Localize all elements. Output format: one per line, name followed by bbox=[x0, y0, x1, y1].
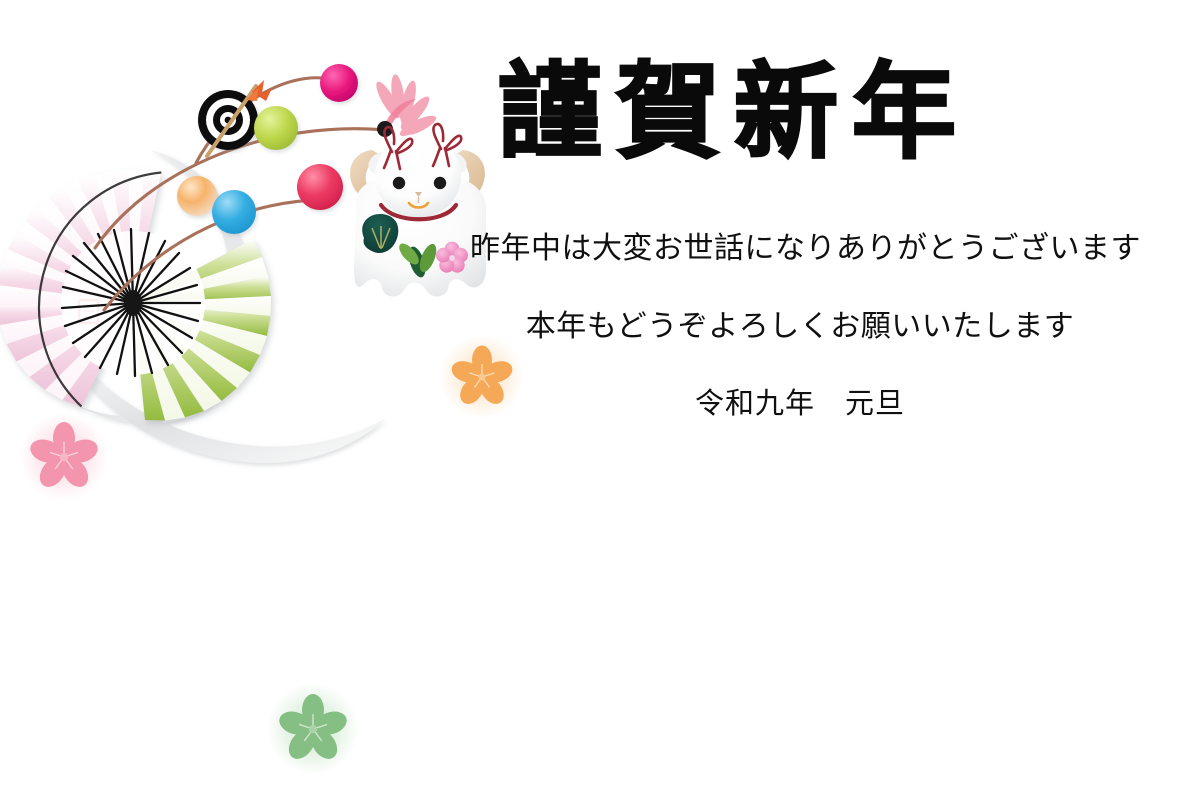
sheep-horn-left bbox=[350, 150, 400, 216]
headline-kinga-shinnen: 謹賀新年 bbox=[498, 52, 1058, 172]
sheep-body bbox=[354, 174, 486, 297]
sheep-eye-right bbox=[434, 177, 446, 189]
pine-motif bbox=[362, 214, 398, 253]
pink-fan bbox=[0, 170, 161, 407]
new-year-card: 謹賀新年 昨年中は大変お世話になりありがとうございます 本年もどうぞよろしくお願… bbox=[0, 0, 1196, 797]
sheep-head bbox=[375, 134, 461, 218]
temari-balls bbox=[177, 64, 358, 234]
sheep-collar bbox=[381, 205, 456, 219]
temari-ball-magenta bbox=[320, 64, 358, 102]
temari-ball-blue bbox=[212, 190, 256, 234]
red-seal-stamp bbox=[79, 300, 98, 323]
ornament-cords bbox=[95, 78, 386, 310]
bamboo-motif bbox=[396, 240, 440, 279]
plum-motif bbox=[436, 242, 468, 273]
temari-ball-green bbox=[254, 106, 298, 150]
silver-ribbon-swoosh bbox=[60, 150, 386, 463]
greeting-date-line: 令和九年 元旦 bbox=[470, 386, 1130, 420]
archery-target bbox=[198, 90, 258, 150]
hamaya-arrow bbox=[207, 80, 272, 156]
fan-ribs bbox=[61, 229, 205, 376]
temari-ball-peach bbox=[177, 176, 217, 216]
greeting-line-2: 本年もどうぞよろしくお願いいたします bbox=[470, 310, 1130, 344]
sheep-figurine bbox=[350, 124, 486, 297]
sheep-horn-right bbox=[449, 150, 485, 200]
sheep-nose bbox=[415, 192, 422, 197]
greeting-message-block: 昨年中は大変お世話になりありがとうございます 本年もどうぞよろしくお願いいたしま… bbox=[470, 232, 1130, 420]
plum-blossom-pink bbox=[20, 413, 108, 501]
plum-blossom-green bbox=[267, 683, 359, 775]
sheep-ribbon-left bbox=[384, 127, 412, 169]
temari-ball-pink bbox=[297, 164, 343, 210]
sheep-ribbon-right bbox=[433, 124, 461, 166]
green-fan bbox=[133, 239, 271, 421]
greeting-line-1: 昨年中は大変お世話になりありがとうございます bbox=[470, 232, 1130, 266]
feather-shuttlecock bbox=[372, 73, 438, 140]
sheep-mouth bbox=[409, 203, 428, 208]
sheep-eye-left bbox=[393, 177, 405, 189]
